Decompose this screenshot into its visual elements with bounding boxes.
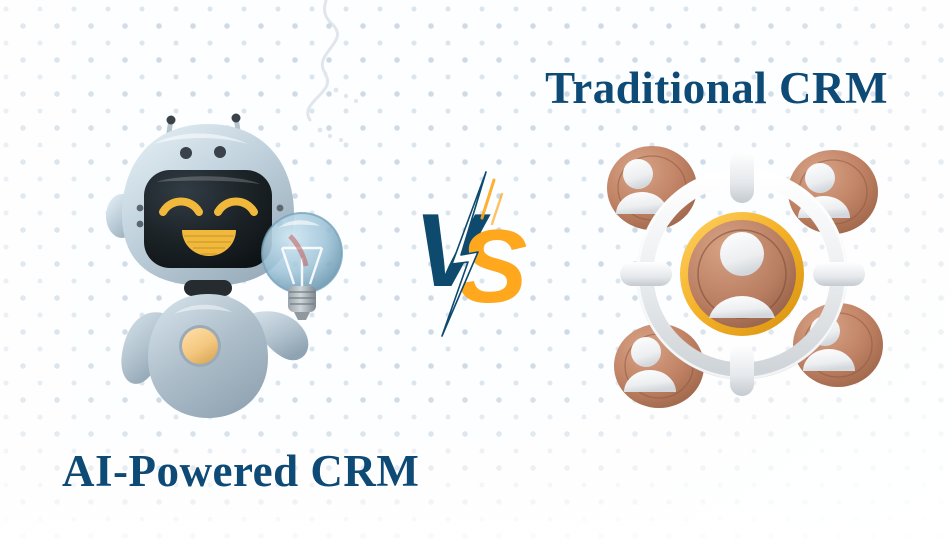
ai-robot-illustration: [108, 108, 358, 418]
crm-hub-person-head: [720, 232, 764, 276]
lightbulb-base: [288, 286, 316, 312]
page-title-traditional-crm: Traditional CRM: [545, 62, 888, 114]
crm-central-hub: [680, 212, 804, 336]
robot-lightbulb: [262, 213, 342, 320]
traditional-crm-illustration: [592, 122, 892, 422]
page-title-ai-powered-crm: AI-Powered CRM: [62, 445, 419, 497]
comparison-graphic: V S Traditional CRM AI-Powered CRM: [0, 0, 950, 545]
robot-chest-button: [179, 325, 221, 367]
versus-badge: V S: [412, 178, 532, 330]
robot-neck: [184, 280, 232, 296]
